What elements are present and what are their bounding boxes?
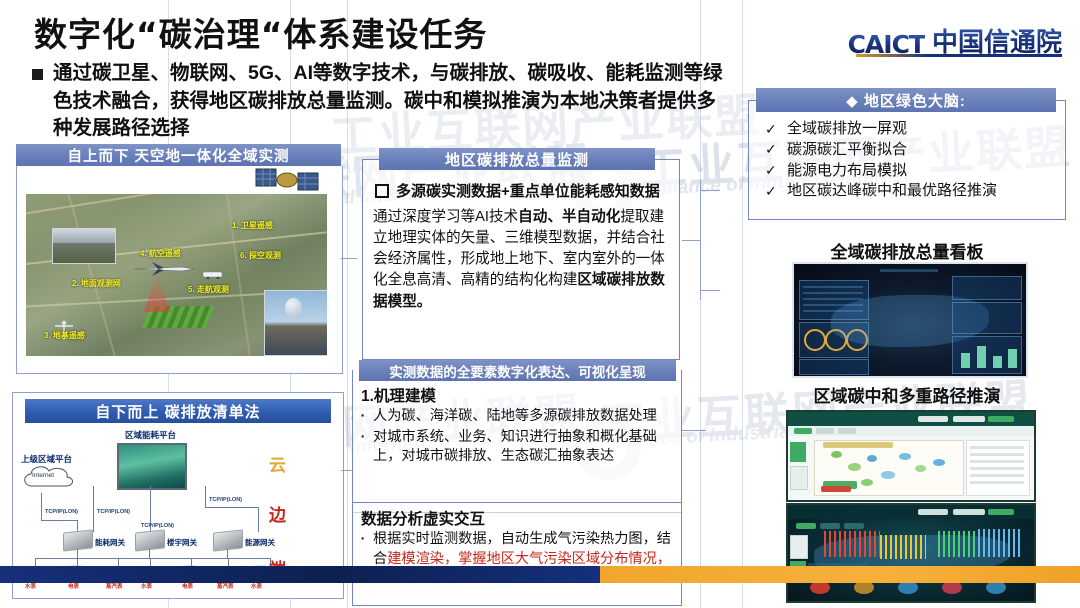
dash2-side-tab-1[interactable] (790, 442, 806, 462)
green-brain-item-2-text: 碳源碳汇平衡拟合 (787, 140, 907, 160)
tcp-label-2: TCP/IP(LON) (97, 509, 130, 515)
dash3-bars-yellow (880, 535, 926, 559)
dash3-bars-blue (978, 529, 1022, 557)
mid-mid-header: 实测数据的全要素数字化表达、可视化呈现 (359, 360, 676, 381)
meter-label-4: 水表 (141, 582, 152, 590)
panel-data-analysis-interaction: 数据分析虚实交互 · 根据实时监测数据，自动生成气污染热力图，结合建模渲染，掌握… (352, 502, 682, 606)
mid-mid-body: 1.机理建模 · 人为碳、海洋碳、陆地等多源碳排放数据处理 · 对城市系统、业务… (352, 370, 682, 513)
dash-panel-right-1 (952, 276, 1022, 300)
gateway-label-2: 楼宇网关 (167, 537, 197, 548)
tier-label-edge: 边 (269, 501, 286, 526)
page-title: 数字化“碳治理“体系建设任务 (34, 8, 487, 56)
green-brain-item-1: ✓ 全域碳排放一屏观 (765, 119, 1059, 139)
green-brain-item-4: ✓ 地区碳达峰碳中和最优路径推演 (765, 181, 1059, 201)
internet-cloud-icon: Internet (19, 463, 77, 493)
meter-label-7: 水表 (251, 582, 262, 590)
internet-label: Internet (32, 472, 54, 479)
dash-panel-right-3 (952, 336, 1022, 374)
check-icon: ✓ (765, 140, 778, 158)
dash3-tab-3[interactable] (844, 523, 864, 529)
para-seg-1: 通过深度学习等AI技术 (373, 209, 518, 225)
check-icon: ✓ (765, 182, 778, 200)
lidar-cone (144, 272, 170, 312)
sat-label-5: 5. 走航观测 (188, 284, 229, 295)
meter-label-2: 电表 (68, 582, 79, 590)
dash2-side-tab-2[interactable] (790, 466, 808, 490)
inset-photo-ground (52, 228, 116, 264)
dash2-topbar (788, 412, 1034, 426)
check-icon: ✓ (765, 161, 778, 179)
dash2-scatter (814, 440, 964, 496)
bottom-bar-orange (590, 566, 1080, 583)
green-brain-item-4-text: 地区碳达峰碳中和最优路径推演 (787, 181, 997, 201)
check-icon: ✓ (765, 120, 778, 138)
connector-right-1 (682, 240, 700, 241)
connector-right-2 (700, 190, 720, 191)
right-top-body: ✓ 全域碳排放一屏观 ✓ 碳源碳汇平衡拟合 ✓ 能源电力布局模拟 ✓ 地区碳达峰… (748, 100, 1066, 220)
mid-mid-subheading: 1.机理建模 (361, 384, 675, 406)
meter-label-1: 水表 (25, 582, 36, 590)
logo-underline (856, 54, 1062, 57)
mid-bot-body: 数据分析虚实交互 · 根据实时监测数据，自动生成气污染热力图，结合建模渲染，掌握… (352, 502, 682, 606)
panel-digital-expression: 1.机理建模 · 人为碳、海洋碳、陆地等多源碳排放数据处理 · 对城市系统、业务… (352, 360, 682, 510)
mid-mid-bullet-1-text: 人为碳、海洋碳、陆地等多源碳排放数据处理 (373, 407, 657, 427)
meter-label-6: 蒸汽表 (217, 582, 234, 590)
mid-mid-bullet-2-text: 对城市系统、业务、知识进行抽象和概化基础上，对城市碳排放、生态碳汇抽象表达 (373, 428, 675, 467)
dash3-tab-2[interactable] (820, 523, 840, 529)
guide-line (742, 0, 743, 608)
dash3-topbar (788, 505, 1034, 519)
mid-mid-bullet-2: · 对城市系统、业务、知识进行抽象和概化基础上，对城市碳排放、生态碳汇抽象表达 (359, 428, 675, 467)
sat-label-1: 1. 卫星遥感 (232, 220, 273, 231)
dash2-legend (966, 440, 1030, 496)
vehicle-icon (202, 266, 224, 275)
lead-paragraph: 通过碳卫星、物联网、5G、AI等数字技术，与碳排放、碳吸收、能耗监测等绿色技术融… (32, 60, 732, 143)
dash3-bars-green (938, 531, 978, 557)
inset-photo-balloon (264, 290, 327, 356)
tcp-label-3: TCP/IP(LON) (141, 523, 174, 529)
regional-platform-screen (117, 443, 187, 490)
left-bottom-header: 自下而上 碳排放清单法 (25, 399, 331, 423)
right-top-header: ◆ 地区绿色大脑: (756, 88, 1056, 112)
dashboard-carbon-map (786, 503, 1036, 603)
green-brain-item-1-text: 全域碳排放一屏观 (787, 119, 907, 139)
checkbox-icon (375, 184, 389, 198)
lead-text: 通过碳卫星、物联网、5G、AI等数字技术，与碳排放、碳吸收、能耗监测等绿色技术融… (53, 60, 732, 143)
panel-regional-green-brain: ✓ 全域碳排放一屏观 ✓ 碳源碳汇平衡拟合 ✓ 能源电力布局模拟 ✓ 地区碳达峰… (748, 88, 1066, 220)
mid-top-header: 地区碳排放总量监测 (379, 148, 655, 170)
gateway-label-3: 能源网关 (245, 537, 275, 548)
label-regional-platform: 区域能耗平台 (125, 429, 176, 441)
satellite-panel-body: 1. 卫星遥感 2. 地面观测网 3. 地基遥感 4. 航空遥感 5. 走航观测… (16, 166, 343, 374)
connector-right-3 (700, 290, 720, 291)
aircraft-icon (132, 262, 196, 276)
mid-top-body: 多源碳实测数据+重点单位能耗感知数据 通过深度学习等AI技术自动、半自动化提取建… (362, 159, 680, 360)
tcp-label-1: TCP/IP(LON) (45, 509, 78, 515)
square-bullet-icon (32, 69, 43, 80)
sat-label-6: 6. 探空观测 (240, 250, 281, 261)
mid-top-paragraph: 通过深度学习等AI技术自动、半自动化提取建立地理实体的矢量、三维模型数据，并结合… (373, 207, 671, 313)
sat-label-4: 4. 航空遥感 (140, 248, 181, 259)
dash-panel-footer (799, 359, 869, 375)
dash3-tab-1[interactable] (796, 523, 816, 529)
mid-top-checkbox-text: 多源碳实测数据+重点单位能耗感知数据 (396, 180, 660, 201)
panel-regional-carbon-monitoring: 多源碳实测数据+重点单位能耗感知数据 通过深度学习等AI技术自动、半自动化提取建… (352, 148, 682, 360)
green-brain-item-3: ✓ 能源电力布局模拟 (765, 161, 1059, 181)
connector-right-4 (682, 430, 706, 431)
sat-label-2: 2. 地面观测网 (72, 278, 121, 289)
bullet-dot-icon: · (359, 428, 367, 467)
slide-root: 工业互联网产业联盟 Alliance of Industrial Interne… (0, 0, 1080, 608)
dashboard-title-1: 全域碳排放总量看板 (748, 238, 1066, 263)
meter-label-5: 电表 (182, 582, 193, 590)
weather-balloon-icon (285, 298, 302, 317)
dash2-tabbar (788, 426, 1034, 436)
meter-label-3: 蒸汽表 (106, 582, 123, 590)
connector-vertical-right (700, 180, 701, 300)
mid-mid-bullet-1: · 人为碳、海洋碳、陆地等多源碳排放数据处理 (359, 407, 675, 427)
bottom-bar-navy (0, 566, 600, 583)
green-brain-item-2: ✓ 碳源碳汇平衡拟合 (765, 140, 1059, 160)
dash-panel-right-2 (952, 302, 1022, 334)
satellite-terrain-image: 1. 卫星遥感 2. 地面观测网 3. 地基遥感 4. 航空遥感 5. 走航观测… (26, 194, 327, 356)
green-brain-item-3-text: 能源电力布局模拟 (787, 161, 907, 181)
tier-label-cloud: 云 (269, 451, 286, 476)
gateway-label-1: 能耗网关 (95, 537, 125, 548)
dashboard-title-2: 区域碳中和多重路径推演 (748, 382, 1066, 407)
dash3-bars-red (824, 531, 880, 557)
mid-top-checkbox-row: 多源碳实测数据+重点单位能耗感知数据 (375, 180, 671, 201)
para-seg-2: 自动、半自动化 (518, 209, 620, 225)
sat-label-3: 3. 地基遥感 (44, 330, 85, 341)
left-top-header: 自上而下 天空地一体化全域实测 (16, 144, 341, 166)
dashboard-path-simulation (786, 410, 1036, 502)
dash3-side-tab-1[interactable] (790, 535, 808, 559)
dashboard-carbon-board (792, 262, 1028, 378)
bullet-dot-icon: · (359, 407, 367, 427)
tcp-label-4: TCP/IP(LON) (209, 497, 242, 503)
mid-bot-subheading: 数据分析虚实交互 (361, 507, 675, 529)
